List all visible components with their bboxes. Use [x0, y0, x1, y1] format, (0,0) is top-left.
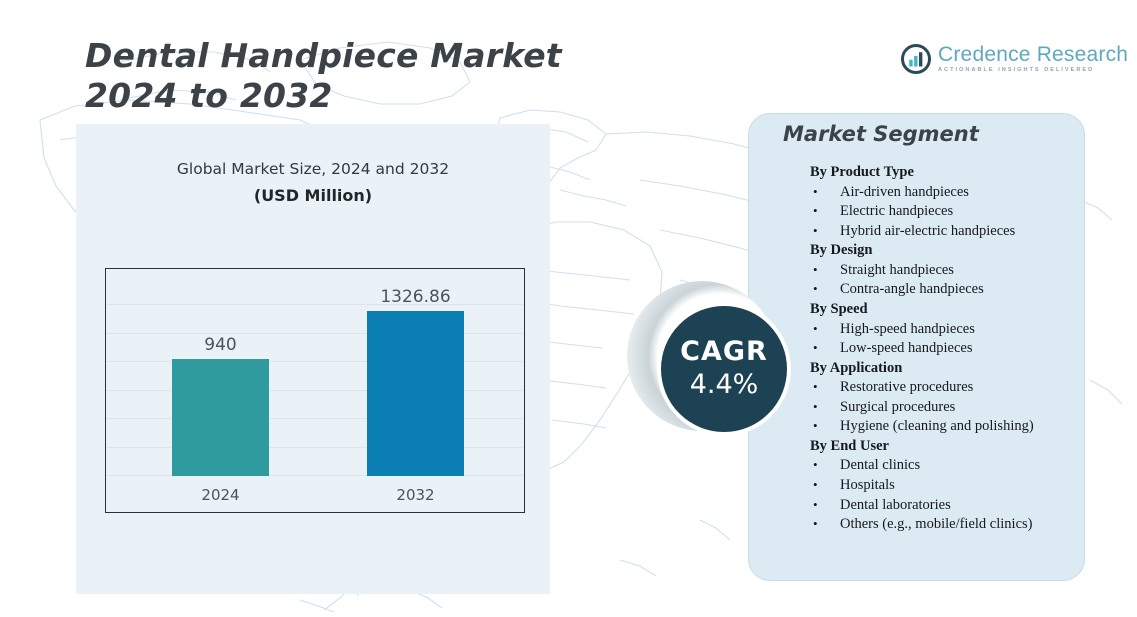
segment-item-label: Air-driven handpieces: [840, 183, 969, 203]
x-axis-label-2032: 2032: [327, 486, 504, 504]
segment-item-label: Dental laboratories: [840, 496, 951, 516]
segment-item-label: Dental clinics: [840, 456, 920, 476]
bar-chart-circle-icon: [901, 44, 931, 74]
segment-item-label: High-speed handpieces: [840, 320, 975, 340]
chart-title: Global Market Size, 2024 and 2032: [96, 160, 530, 178]
segment-group-heading: By Design: [810, 241, 1080, 261]
cagr-value: 4.4%: [690, 369, 759, 400]
segment-group-heading: By Application: [810, 359, 1080, 379]
x-axis-label-2024: 2024: [132, 486, 309, 504]
segment-list-item: •Air-driven handpieces: [810, 183, 1080, 203]
bullet-icon: •: [810, 496, 840, 514]
infographic-canvas: Dental Handpiece Market 2024 to 2032 Cre…: [0, 0, 1137, 617]
logo-tagline: Actionable Insights Delivered: [938, 68, 1128, 74]
segment-item-label: Others (e.g., mobile/field clinics): [840, 515, 1032, 535]
cagr-label: CAGR: [680, 338, 768, 366]
bullet-icon: •: [810, 202, 840, 220]
bullet-icon: •: [810, 320, 840, 338]
market-segment-title: Market Segment: [783, 122, 979, 146]
page-title: Dental Handpiece Market 2024 to 2032: [85, 36, 685, 117]
bar-value-label-2032: 1326.86: [327, 287, 504, 307]
bullet-icon: •: [810, 398, 840, 416]
segment-item-label: Low-speed handpieces: [840, 339, 972, 359]
segment-list-item: •Dental clinics: [810, 456, 1080, 476]
segment-group-heading: By Product Type: [810, 163, 1080, 183]
segment-list-item: •Dental laboratories: [810, 496, 1080, 516]
segment-list-item: •Hospitals: [810, 476, 1080, 496]
cagr-badge: CAGR 4.4%: [627, 281, 807, 456]
segment-item-label: Electric handpieces: [840, 202, 953, 222]
bar-2024: [172, 359, 269, 476]
segment-item-label: Contra-angle handpieces: [840, 280, 984, 300]
segment-item-label: Hospitals: [840, 476, 895, 496]
segment-list-item: •Electric handpieces: [810, 202, 1080, 222]
segment-list-item: •Restorative procedures: [810, 378, 1080, 398]
segment-list-item: •Straight handpieces: [810, 261, 1080, 281]
bar-value-label-2024: 940: [132, 335, 309, 355]
bullet-icon: •: [810, 280, 840, 298]
segment-list-item: •High-speed handpieces: [810, 320, 1080, 340]
segment-item-label: Hygiene (cleaning and polishing): [840, 417, 1034, 437]
segment-list-item: •Low-speed handpieces: [810, 339, 1080, 359]
bullet-icon: •: [810, 417, 840, 435]
cagr-circle: CAGR 4.4%: [657, 302, 791, 436]
segment-item-label: Surgical procedures: [840, 398, 955, 418]
bullet-icon: •: [810, 339, 840, 357]
chart-subtitle: (USD Million): [96, 186, 530, 205]
segment-list-item: •Hybrid air-electric handpieces: [810, 222, 1080, 242]
brand-logo: Credence Research Actionable Insights De…: [901, 44, 1128, 74]
segment-list-item: •Hygiene (cleaning and polishing): [810, 417, 1080, 437]
segment-list-item: •Others (e.g., mobile/field clinics): [810, 515, 1080, 535]
bar-2032: [367, 311, 464, 476]
market-segment-list: By Product Type•Air-driven handpieces•El…: [810, 163, 1080, 535]
segment-list-item: •Contra-angle handpieces: [810, 280, 1080, 300]
logo-brand-name: Credence Research: [938, 44, 1128, 65]
bullet-icon: •: [810, 183, 840, 201]
bullet-icon: •: [810, 476, 840, 494]
bullet-icon: •: [810, 515, 840, 533]
segment-group-heading: By End User: [810, 437, 1080, 457]
bullet-icon: •: [810, 456, 840, 474]
segment-group-heading: By Speed: [810, 300, 1080, 320]
bar-chart-plot-area: 940 1326.86 2024 2032: [105, 268, 525, 513]
bullet-icon: •: [810, 261, 840, 279]
segment-item-label: Restorative procedures: [840, 378, 973, 398]
bullet-icon: •: [810, 378, 840, 396]
bullet-icon: •: [810, 222, 840, 240]
segment-item-label: Straight handpieces: [840, 261, 954, 281]
segment-list-item: •Surgical procedures: [810, 398, 1080, 418]
segment-item-label: Hybrid air-electric handpieces: [840, 222, 1015, 242]
